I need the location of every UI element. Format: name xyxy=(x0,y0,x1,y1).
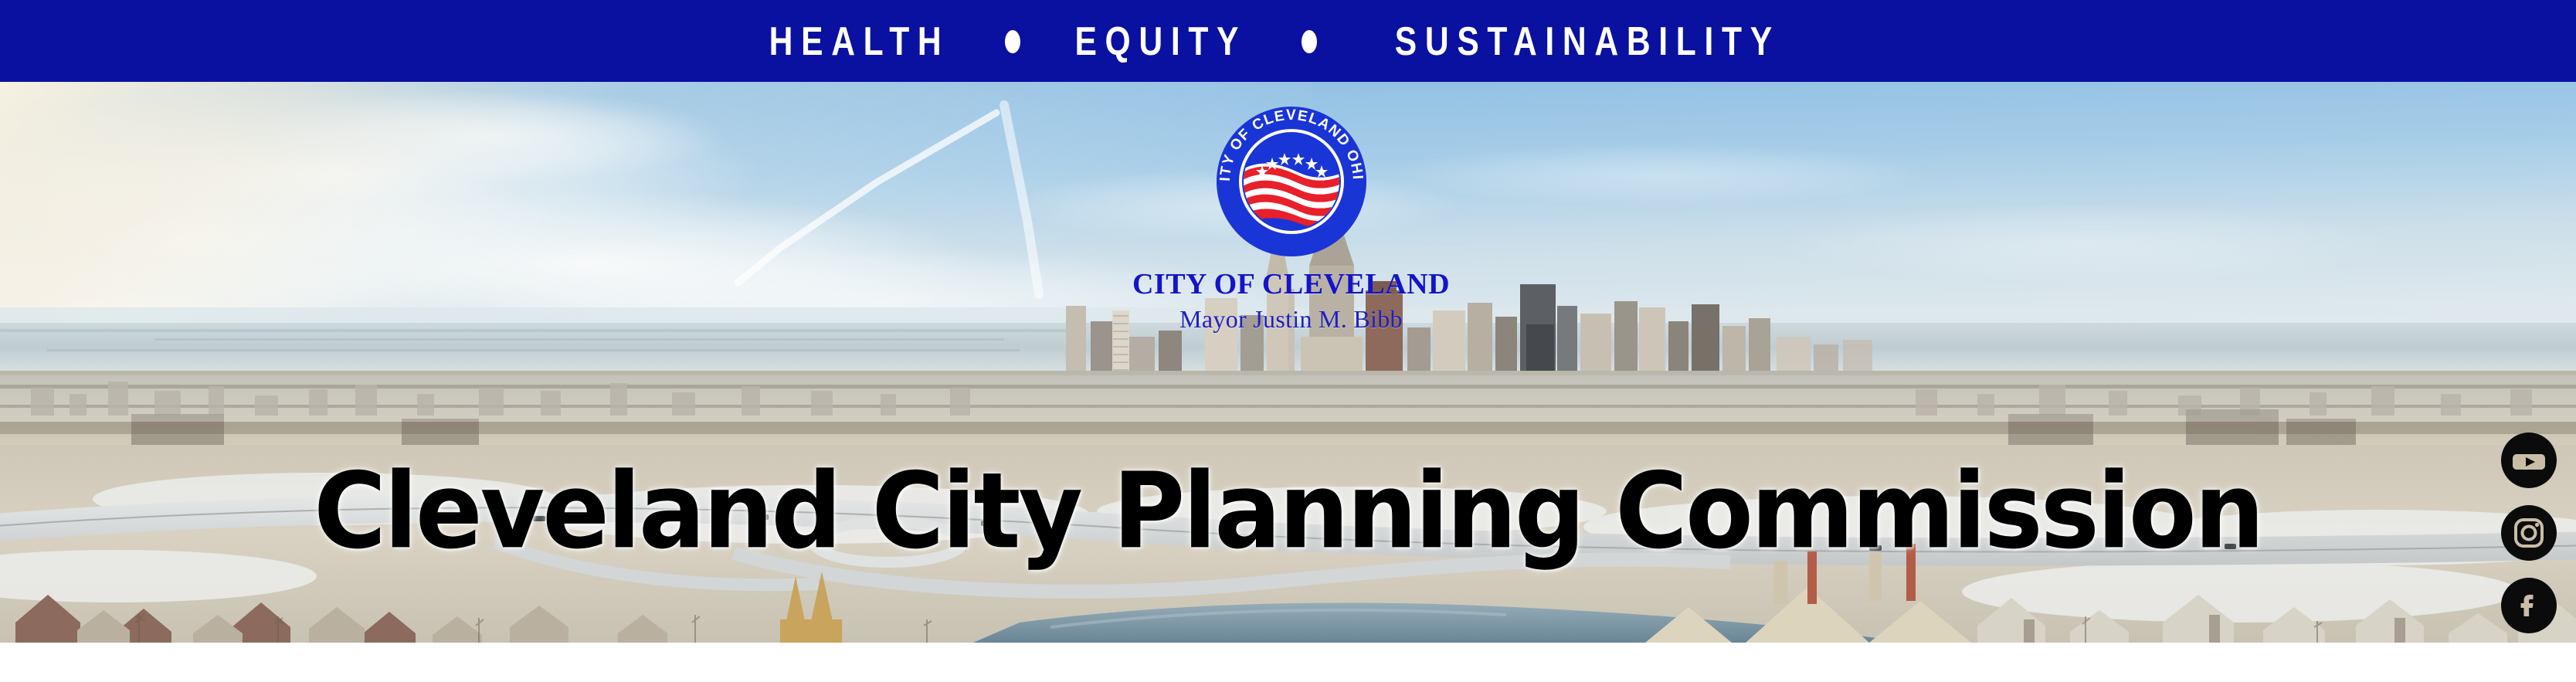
facebook-icon xyxy=(2513,590,2544,621)
bullet-dot-icon xyxy=(1302,30,1317,53)
social-media-links xyxy=(2501,433,2557,633)
instagram-link[interactable] xyxy=(2501,505,2557,561)
tagline-word-equity: EQUITY xyxy=(1074,22,1247,62)
youtube-icon xyxy=(2512,443,2546,477)
tagline-word-sustainability: SUSTAINABILITY xyxy=(1394,22,1780,62)
facebook-link[interactable] xyxy=(2501,578,2557,633)
youtube-link[interactable] xyxy=(2501,433,2557,488)
tagline-word-health: HEALTH xyxy=(769,22,950,62)
tagline-banner: HEALTH EQUITY SUSTAINABILITY xyxy=(0,0,2576,83)
hero-photo-artwork xyxy=(0,82,2576,643)
hero-photo xyxy=(0,82,2576,643)
page-root: HEALTH EQUITY SUSTAINABILITY xyxy=(0,0,2576,682)
bullet-dot-icon xyxy=(1005,30,1020,53)
instagram-icon xyxy=(2513,517,2545,549)
tagline-banner-inner: HEALTH EQUITY SUSTAINABILITY xyxy=(749,22,1822,62)
